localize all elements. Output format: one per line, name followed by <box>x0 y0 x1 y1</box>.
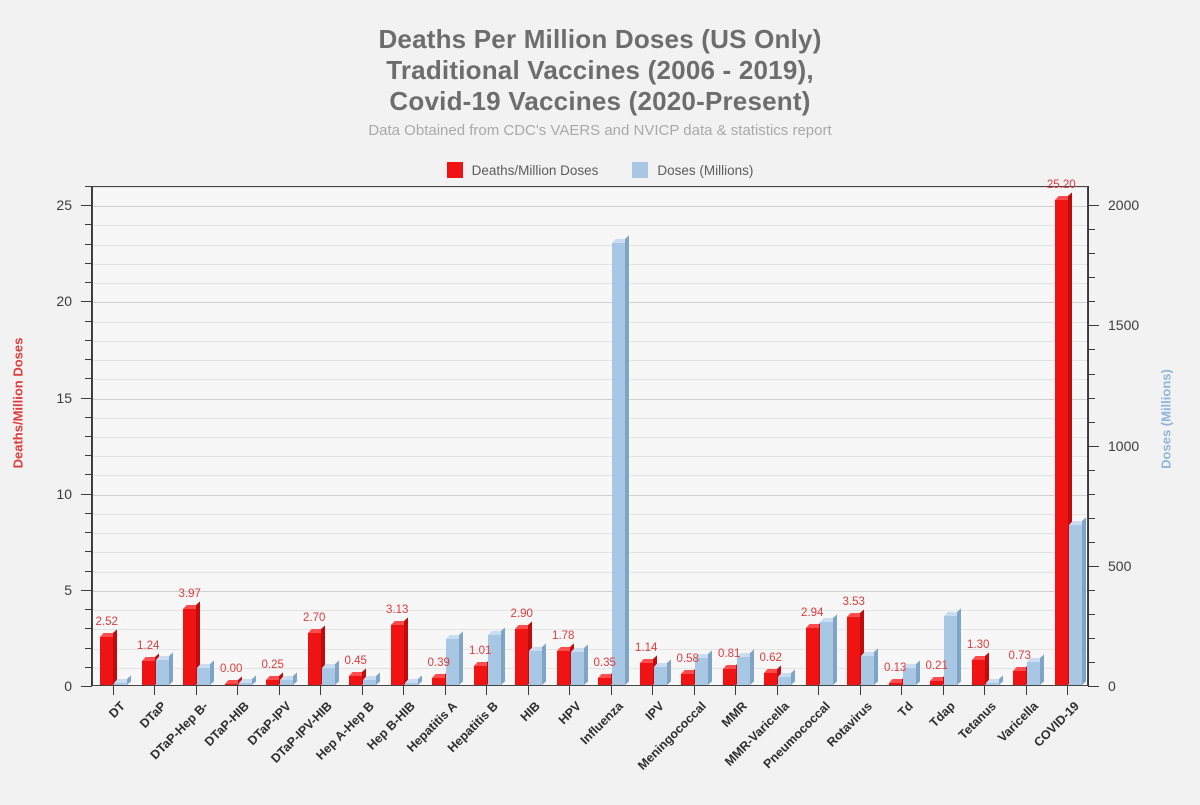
y-axis-left-minor-tick <box>85 359 92 360</box>
bar-doses-millions[interactable] <box>239 683 252 685</box>
y-axis-right: 0500100015002000 <box>1088 186 1104 686</box>
x-axis-tick-label: MMR <box>719 699 750 730</box>
legend-item[interactable]: Deaths/Million Doses <box>447 162 599 178</box>
x-axis-tick-label: DTaP-HIB <box>202 699 252 749</box>
bar-deaths-per-million[interactable] <box>806 628 819 685</box>
y-axis-right-tick-label: 500 <box>1108 558 1131 574</box>
bar-group: 2.90 <box>508 187 550 685</box>
bar-value-label: 1.01 <box>469 645 491 657</box>
x-axis-tick-label: Td <box>895 699 916 720</box>
x-axis-tick-label: Tetanus <box>956 699 999 742</box>
y-axis-left-tick-label: 5 <box>64 582 72 598</box>
x-axis-tick-label: IPV <box>643 699 667 723</box>
x-axis-tick <box>362 686 363 695</box>
y-axis-left-major-tick <box>81 494 92 495</box>
bar-deaths-per-million[interactable] <box>183 609 196 685</box>
y-axis-right-major-tick <box>1088 686 1099 687</box>
x-axis-tick <box>113 686 114 695</box>
y-axis-left-major-tick <box>81 686 92 687</box>
bar-deaths-per-million[interactable] <box>515 629 528 685</box>
y-axis-left-tick-label: 15 <box>56 390 72 406</box>
y-axis-left-major-tick <box>81 301 92 302</box>
bar-value-label: 0.81 <box>718 648 740 660</box>
y-axis-left-major-tick <box>81 590 92 591</box>
x-axis-tick <box>943 686 944 695</box>
bar-doses-millions[interactable] <box>280 680 293 685</box>
y-axis-right-tick-label: 1000 <box>1108 438 1139 454</box>
x-axis-tick <box>611 686 612 695</box>
bar-value-label: 2.90 <box>511 608 533 620</box>
y-axis-left-minor-tick <box>85 244 92 245</box>
y-axis-left-major-tick <box>81 205 92 206</box>
bar-value-label: 2.94 <box>801 607 823 619</box>
x-axis-tick <box>777 686 778 695</box>
y-axis-left-minor-tick <box>85 532 92 533</box>
bar-deaths-per-million[interactable] <box>557 651 570 685</box>
bar-value-label: 1.24 <box>137 640 159 652</box>
y-axis-right-minor-tick <box>1088 301 1095 302</box>
bar-deaths-per-million[interactable] <box>930 681 943 685</box>
y-axis-left-minor-tick <box>85 513 92 514</box>
bar-value-label: 0.45 <box>345 655 367 667</box>
x-axis-tick <box>652 686 653 695</box>
bar-value-label: 2.52 <box>96 616 118 628</box>
y-axis-right-title: Doses (Millions) <box>1159 369 1174 469</box>
bar-deaths-per-million[interactable] <box>308 633 321 685</box>
x-axis-tick <box>279 686 280 695</box>
bar-doses-millions[interactable] <box>197 668 210 685</box>
y-axis-right-minor-tick <box>1088 542 1095 543</box>
bar-doses-millions[interactable] <box>986 683 999 685</box>
y-axis-right-minor-tick <box>1088 638 1095 639</box>
y-axis-left-minor-tick <box>85 667 92 668</box>
bar-doses-millions[interactable] <box>488 635 501 685</box>
x-axis-tick <box>320 686 321 695</box>
y-axis-left-tick-label: 20 <box>56 293 72 309</box>
chart-subtitle: Data Obtained from CDC's VAERS and NVICP… <box>0 122 1200 140</box>
y-axis-right-tick-label: 0 <box>1108 678 1116 694</box>
bar-doses-millions[interactable] <box>405 683 418 685</box>
bar-value-label: 2.70 <box>303 612 325 624</box>
bar-group: 0.21 <box>923 187 965 685</box>
chart-title-line-2: Traditional Vaccines (2006 - 2019), <box>0 55 1200 86</box>
y-axis-left-minor-tick <box>85 628 92 629</box>
bar-doses-millions[interactable] <box>114 683 127 685</box>
bar-group: 2.70 <box>301 187 343 685</box>
y-axis-right-major-tick <box>1088 205 1099 206</box>
bar-group: 3.53 <box>840 187 882 685</box>
bar-group: 0.45 <box>342 187 384 685</box>
y-axis-right-minor-tick <box>1088 518 1095 519</box>
x-axis-tick <box>984 686 985 695</box>
bar-value-label: 3.13 <box>386 604 408 616</box>
y-axis-left-minor-tick <box>85 571 92 572</box>
y-axis-right-minor-tick <box>1088 277 1095 278</box>
bar-deaths-per-million[interactable] <box>432 678 445 686</box>
y-axis-left-minor-tick <box>85 648 92 649</box>
x-axis-tick <box>237 686 238 695</box>
x-axis-tick <box>818 686 819 695</box>
y-axis-left-minor-tick <box>85 417 92 418</box>
bar-value-label: 1.78 <box>552 630 574 642</box>
y-axis-left-tick-label: 25 <box>56 197 72 213</box>
bar-value-label: 0.13 <box>884 662 906 674</box>
bar-doses-millions[interactable] <box>944 616 957 685</box>
bar-doses-millions[interactable] <box>1027 662 1040 685</box>
bar-group: 0.25 <box>259 187 301 685</box>
bar-group: 0.35 <box>591 187 633 685</box>
bar-value-label: 0.21 <box>926 660 948 672</box>
x-axis-tick-label: HIB <box>518 699 543 724</box>
bar-group: 0.81 <box>716 187 758 685</box>
legend-item-label: Doses (Millions) <box>657 163 753 178</box>
chart-title-block: Deaths Per Million Doses (US Only) Tradi… <box>0 24 1200 140</box>
y-axis-left-minor-tick <box>85 551 92 552</box>
bar-deaths-per-million[interactable] <box>764 673 777 685</box>
bar-group: 25.20 <box>1048 187 1090 685</box>
bar-doses-millions[interactable] <box>529 651 542 685</box>
bar-group: 0.62 <box>757 187 799 685</box>
bar-doses-millions[interactable] <box>778 677 791 685</box>
y-axis-left-minor-tick <box>85 474 92 475</box>
y-axis-left-minor-tick <box>85 340 92 341</box>
y-axis-right-minor-tick <box>1088 253 1095 254</box>
bar-group: 1.24 <box>135 187 177 685</box>
bar-deaths-per-million[interactable] <box>598 678 611 685</box>
bar-doses-millions[interactable] <box>737 657 750 685</box>
y-axis-left-major-tick <box>81 398 92 399</box>
y-axis-right-tick-label: 1500 <box>1108 317 1139 333</box>
chart-title-line-1: Deaths Per Million Doses (US Only) <box>0 24 1200 55</box>
bar-deaths-per-million[interactable] <box>225 684 238 685</box>
bar-deaths-per-million[interactable] <box>142 661 155 685</box>
bar-group: 3.97 <box>176 187 218 685</box>
y-axis-right-minor-tick <box>1088 422 1095 423</box>
y-axis-left-minor-tick <box>85 609 92 610</box>
x-axis-tick <box>154 686 155 695</box>
x-axis-tick <box>486 686 487 695</box>
y-axis-left-minor-tick <box>85 282 92 283</box>
blue-square-swatch <box>632 162 648 178</box>
x-axis-tick <box>528 686 529 695</box>
bar-deaths-per-million[interactable] <box>1055 200 1068 685</box>
x-axis-tick-label: DTaP <box>137 699 169 731</box>
bar-series-container: 2.521.243.970.000.252.700.453.130.391.01… <box>93 187 1087 685</box>
y-axis-right-line <box>1088 186 1089 686</box>
bar-doses-millions[interactable] <box>612 243 625 685</box>
bar-deaths-per-million[interactable] <box>266 680 279 685</box>
bar-group: 1.30 <box>965 187 1007 685</box>
y-axis-left-minor-tick <box>85 436 92 437</box>
bar-deaths-per-million[interactable] <box>349 676 362 685</box>
y-axis-right-minor-tick <box>1088 374 1095 375</box>
bar-group: 3.13 <box>384 187 426 685</box>
bar-deaths-per-million[interactable] <box>640 663 653 685</box>
x-axis-tick <box>196 686 197 695</box>
y-axis-right-major-tick <box>1088 325 1099 326</box>
y-axis-left-minor-tick <box>85 321 92 322</box>
bar-doses-millions[interactable] <box>1069 525 1082 685</box>
bar-deaths-per-million[interactable] <box>474 666 487 685</box>
bar-deaths-per-million[interactable] <box>723 669 736 685</box>
bar-group: 1.01 <box>467 187 509 685</box>
x-axis-tick <box>445 686 446 695</box>
chart-legend: Deaths/Million DosesDoses (Millions) <box>0 162 1200 178</box>
y-axis-left-minor-tick <box>85 455 92 456</box>
x-axis-tick-label: DT <box>106 699 128 721</box>
y-axis-right-major-tick <box>1088 566 1099 567</box>
y-axis-left-title: Deaths/Million Doses <box>11 337 26 468</box>
legend-item-label: Deaths/Million Doses <box>472 163 599 178</box>
y-axis-right-minor-tick <box>1088 494 1095 495</box>
x-axis-tick <box>694 686 695 695</box>
bar-group: 1.14 <box>633 187 675 685</box>
bar-doses-millions[interactable] <box>820 622 833 685</box>
chart-title-line-3: Covid-19 Vaccines (2020-Present) <box>0 86 1200 117</box>
bar-value-label: 1.30 <box>967 639 989 651</box>
bar-value-label: 0.73 <box>1009 650 1031 662</box>
bar-deaths-per-million[interactable] <box>391 625 404 685</box>
x-axis-tick-label: Influenza <box>577 699 625 747</box>
y-axis-right-minor-tick <box>1088 470 1095 471</box>
bar-value-label: 0.62 <box>760 652 782 664</box>
plot-area: 2.521.243.970.000.252.700.453.130.391.01… <box>92 186 1088 686</box>
y-axis-left-minor-tick <box>85 224 92 225</box>
x-axis-tick-label: HPV <box>556 699 584 727</box>
x-axis-tick <box>569 686 570 695</box>
bar-value-label: 3.53 <box>843 596 865 608</box>
bar-doses-millions[interactable] <box>861 656 874 685</box>
y-axis-left-minor-tick <box>85 186 92 187</box>
y-axis-right-tick-label: 2000 <box>1108 197 1139 213</box>
bar-group: 0.13 <box>882 187 924 685</box>
bar-value-label: 25.20 <box>1047 179 1076 191</box>
bar-group: 0.39 <box>425 187 467 685</box>
bar-deaths-per-million[interactable] <box>681 674 694 685</box>
bar-value-label: 3.97 <box>179 588 201 600</box>
bar-group: 0.00 <box>218 187 260 685</box>
y-axis-left-minor-tick <box>85 263 92 264</box>
bar-group: 2.94 <box>799 187 841 685</box>
y-axis-right-minor-tick <box>1088 590 1095 591</box>
bar-doses-millions[interactable] <box>571 652 584 685</box>
x-axis-tick <box>1067 686 1068 695</box>
bar-doses-millions[interactable] <box>363 680 376 685</box>
x-axis-tick <box>735 686 736 695</box>
x-axis-tick <box>403 686 404 695</box>
bar-value-label: 0.39 <box>428 657 450 669</box>
legend-item[interactable]: Doses (Millions) <box>632 162 753 178</box>
bar-value-label: 0.00 <box>220 663 242 675</box>
bar-group: 1.78 <box>550 187 592 685</box>
y-axis-right-minor-tick <box>1088 398 1095 399</box>
y-axis-left-minor-tick <box>85 378 92 379</box>
bar-value-label: 1.14 <box>635 642 657 654</box>
bar-deaths-per-million[interactable] <box>889 683 902 686</box>
bar-doses-millions[interactable] <box>322 668 335 685</box>
bar-doses-millions[interactable] <box>156 660 169 685</box>
bar-value-label: 0.58 <box>677 653 699 665</box>
y-axis-right-minor-tick <box>1088 614 1095 615</box>
bar-deaths-per-million[interactable] <box>100 637 113 685</box>
y-axis-left-tick-label: 0 <box>64 678 72 694</box>
x-axis-tick <box>860 686 861 695</box>
bar-deaths-per-million[interactable] <box>1013 671 1026 685</box>
x-axis: DTDTaPDTaP-Hep B-DTaP-HIBDTaP-IPVDTaP-IP… <box>92 686 1088 796</box>
y-axis-right-minor-tick <box>1088 662 1095 663</box>
x-axis-tick <box>901 686 902 695</box>
bar-group: 0.58 <box>674 187 716 685</box>
red-square-swatch <box>447 162 463 178</box>
x-axis-tick-label: Tdap <box>927 699 958 730</box>
y-axis-right-minor-tick <box>1088 229 1095 230</box>
y-axis-right-minor-tick <box>1088 349 1095 350</box>
y-axis-right-major-tick <box>1088 446 1099 447</box>
bar-deaths-per-million[interactable] <box>972 660 985 685</box>
bar-doses-millions[interactable] <box>654 667 667 685</box>
bar-group: 2.52 <box>93 187 135 685</box>
chart-canvas: Deaths Per Million Doses (US Only) Tradi… <box>0 0 1200 805</box>
bar-group: 0.73 <box>1006 187 1048 685</box>
y-axis-left: 0510152025 <box>76 186 92 686</box>
y-axis-left-tick-label: 10 <box>56 486 72 502</box>
bar-value-label: 0.25 <box>262 659 284 671</box>
bar-value-label: 0.35 <box>594 657 616 669</box>
bar-deaths-per-million[interactable] <box>847 617 860 685</box>
x-axis-tick <box>1026 686 1027 695</box>
